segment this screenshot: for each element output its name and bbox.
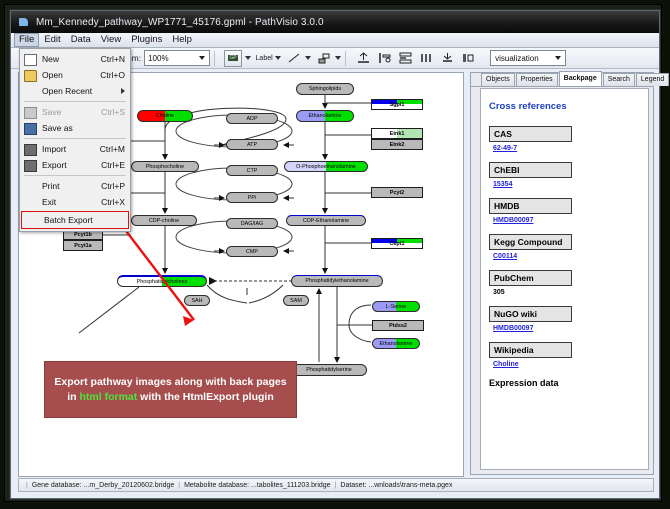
pathway-node-cdp-choline[interactable]: CDP-choline bbox=[131, 215, 197, 226]
pathway-gene-cept1[interactable]: Cept1 bbox=[371, 238, 423, 249]
window-title: Mm_Kennedy_pathway_WP1771_45176.gpml - P… bbox=[36, 17, 324, 28]
pathway-node-label: PPi bbox=[248, 195, 256, 201]
shape-button[interactable] bbox=[316, 51, 332, 66]
status-divider-2: | bbox=[335, 482, 337, 489]
line-icon bbox=[288, 53, 301, 64]
menu-separator-2 bbox=[24, 138, 126, 139]
pathway-gene-label: Etnk2 bbox=[390, 142, 405, 148]
pathway-node-sah[interactable]: SAH bbox=[184, 295, 210, 306]
pathway-node-ethanolamine-top[interactable]: Ethanolamine bbox=[296, 110, 354, 122]
tab-backpage[interactable]: Backpage bbox=[559, 71, 602, 86]
pathway-gene-ptdss2[interactable]: Ptdss2 bbox=[372, 320, 424, 331]
menu-item-print-label: Print bbox=[42, 181, 59, 191]
status-divider-0: | bbox=[26, 482, 28, 489]
pathway-node-label: SAM bbox=[290, 298, 302, 304]
menu-item-export[interactable]: Export Ctrl+E bbox=[20, 157, 130, 173]
status-divider-1: | bbox=[178, 482, 180, 489]
side-panel-tabs: Objects Properties Backpage Search Legen… bbox=[471, 73, 653, 87]
menu-data[interactable]: Data bbox=[66, 33, 96, 47]
menu-item-save-as-label: Save as bbox=[42, 123, 73, 133]
menu-item-open-label: Open bbox=[42, 70, 63, 80]
menu-item-batch-export[interactable]: Batch Export bbox=[21, 211, 129, 229]
zoom-value: 100% bbox=[148, 54, 168, 63]
chevron-down-icon-2 bbox=[555, 56, 561, 60]
menu-file[interactable]: File bbox=[14, 33, 39, 47]
menu-item-batch-export-label: Batch Export bbox=[44, 215, 93, 225]
callout-text-after: with the HtmlExport plugin bbox=[137, 391, 274, 403]
pathway-gene-pcyt2[interactable]: Pcyt2 bbox=[371, 187, 423, 198]
pathway-node-phosphatidylser[interactable]: Phosphatidylserine bbox=[291, 364, 367, 376]
pathway-node-cdp-ethanolamine[interactable]: CDP-Ethanolamine bbox=[286, 215, 366, 226]
line-button[interactable] bbox=[286, 51, 302, 66]
pathway-node-ppi[interactable]: PPi bbox=[226, 192, 278, 203]
pathway-node-cmp[interactable]: CMP bbox=[226, 246, 278, 257]
menu-item-exit[interactable]: Exit Ctrl+X bbox=[20, 194, 130, 210]
tab-legend[interactable]: Legend bbox=[636, 73, 669, 86]
pathway-node-atp[interactable]: ATP bbox=[226, 139, 278, 150]
xref-value-chebi[interactable]: 15354 bbox=[493, 181, 640, 188]
callout-highlight: html format bbox=[80, 391, 138, 403]
save-as-icon bbox=[24, 123, 37, 135]
datanode-dropdown-icon[interactable] bbox=[245, 56, 251, 60]
title-bar: Mm_Kennedy_pathway_WP1771_45176.gpml - P… bbox=[11, 11, 659, 34]
toolbar-divider-2 bbox=[345, 51, 346, 66]
pathway-node-label: Ethanolamine bbox=[309, 113, 342, 119]
xref-value-kegg-compound[interactable]: C00114 bbox=[493, 253, 640, 260]
menu-bar: File Edit Data View Plugins Help bbox=[11, 33, 659, 48]
pathway-node-label: SAH bbox=[191, 298, 202, 304]
pathway-node-ctp[interactable]: CTP bbox=[226, 165, 278, 176]
tab-objects[interactable]: Objects bbox=[481, 73, 515, 86]
order-icon[interactable] bbox=[460, 51, 476, 66]
desktop-background: Mm_Kennedy_pathway_WP1771_45176.gpml - P… bbox=[0, 0, 670, 509]
tab-properties[interactable]: Properties bbox=[516, 73, 558, 86]
menu-help[interactable]: Help bbox=[167, 33, 197, 47]
pathway-node-label: Phosphocholine bbox=[146, 164, 184, 170]
expression-data-heading: Expression data bbox=[489, 378, 640, 388]
pathway-node-label: O-Phosphoethanolamine bbox=[296, 164, 356, 170]
pathway-gene-pcyt1a[interactable]: Pcyt1a bbox=[63, 240, 103, 251]
menu-item-save-as[interactable]: Save as bbox=[20, 120, 130, 136]
export-icon bbox=[24, 160, 37, 172]
menu-item-exit-label: Exit bbox=[42, 197, 56, 207]
pathway-node-label: ATP bbox=[247, 142, 257, 148]
label-button[interactable]: Label bbox=[256, 51, 272, 66]
pathway-gene-etnk1[interactable]: Etnk1 bbox=[371, 128, 423, 139]
pathway-node-choline[interactable]: Choline bbox=[137, 110, 193, 122]
pathway-node-label: ADP bbox=[246, 116, 257, 122]
shape-dropdown-icon[interactable] bbox=[335, 56, 341, 60]
group-icon[interactable] bbox=[439, 51, 455, 66]
pathway-node-o-phosphoetham[interactable]: O-Phosphoethanolamine bbox=[284, 161, 368, 172]
pathway-node-dag-dag[interactable]: DAG/IAG bbox=[226, 218, 278, 229]
menu-item-save: Save Ctrl+S bbox=[20, 104, 130, 120]
visualization-combo[interactable]: visualization bbox=[490, 50, 566, 66]
menu-plugins[interactable]: Plugins bbox=[126, 33, 167, 47]
pathvisio-application-window: Mm_Kennedy_pathway_WP1771_45176.gpml - P… bbox=[10, 10, 660, 499]
align-stack-icon[interactable] bbox=[397, 51, 413, 66]
xref-source-pubchem: PubChem bbox=[489, 270, 572, 286]
menu-item-new-label: New bbox=[42, 54, 59, 64]
pathvisio-icon bbox=[17, 16, 31, 28]
pathway-node-sphingolipids[interactable]: Sphingolipids bbox=[296, 83, 354, 95]
menu-separator-1 bbox=[24, 101, 126, 102]
menu-item-save-label: Save bbox=[42, 107, 61, 117]
zoom-combo[interactable]: 100% bbox=[144, 50, 210, 66]
import-icon bbox=[24, 144, 37, 156]
menu-item-new-accel: Ctrl+N bbox=[101, 54, 125, 64]
status-metabolite-database: Metabolite database: ...tabolites_111203… bbox=[184, 482, 330, 489]
xref-value-nugo-wiki[interactable]: HMDB00097 bbox=[493, 325, 640, 332]
menu-item-export-accel: Ctrl+E bbox=[101, 160, 125, 170]
pathway-node-label: CDP-choline bbox=[149, 218, 179, 224]
align-top-icon[interactable] bbox=[355, 51, 371, 66]
tab-search[interactable]: Search bbox=[603, 73, 635, 86]
shape-icon bbox=[318, 53, 331, 64]
pathway-node-phosphatidylch[interactable]: Phosphatidylcholines bbox=[117, 275, 207, 287]
label-dropdown-icon[interactable] bbox=[275, 56, 281, 60]
menu-item-import-label: Import bbox=[42, 144, 66, 154]
pathway-node-label: Ethanolamine bbox=[380, 341, 413, 347]
align-left-icon[interactable] bbox=[376, 51, 392, 66]
xref-source-chebi: ChEBI bbox=[489, 162, 572, 178]
save-icon bbox=[24, 107, 37, 119]
open-folder-icon bbox=[24, 70, 37, 82]
xref-value-wikipedia[interactable]: Choline bbox=[493, 361, 640, 368]
pathway-gene-label: Ptdss2 bbox=[389, 323, 407, 329]
pathway-node-ethanolamine-low[interactable]: Ethanolamine bbox=[372, 338, 420, 349]
pathway-node-phosphocholine[interactable]: Phosphocholine bbox=[131, 161, 199, 172]
status-gene-database: Gene database: ...m_Derby_20120602.bridg… bbox=[32, 482, 174, 489]
menu-edit[interactable]: Edit bbox=[39, 33, 65, 47]
pathway-node-label: L-Serine bbox=[386, 304, 406, 310]
menu-view[interactable]: View bbox=[96, 33, 126, 47]
pathway-node-label: CMP bbox=[246, 249, 258, 255]
status-bar: | Gene database: ...m_Derby_20120602.bri… bbox=[18, 478, 654, 492]
line-dropdown-icon[interactable] bbox=[305, 56, 311, 60]
menu-item-exit-accel: Ctrl+X bbox=[101, 197, 125, 207]
xref-value-pubchem: 305 bbox=[493, 289, 640, 296]
pathway-node-sam[interactable]: SAM bbox=[283, 295, 309, 306]
datanode-button[interactable]: GP bbox=[224, 50, 242, 67]
cross-references-heading: Cross references bbox=[489, 101, 640, 112]
new-document-icon bbox=[24, 54, 37, 66]
menu-item-open-recent[interactable]: Open Recent bbox=[20, 83, 130, 99]
pathway-node-label: DAG/IAG bbox=[241, 221, 263, 227]
pathway-node-label: Choline bbox=[156, 113, 174, 119]
pathway-node-label: Phosphatidylserine bbox=[306, 367, 352, 373]
menu-item-new[interactable]: New Ctrl+N bbox=[20, 51, 130, 67]
pathway-gene-label: Pcyt1b bbox=[74, 232, 92, 238]
menu-item-open-recent-label: Open Recent bbox=[42, 86, 92, 96]
menu-item-export-label: Export bbox=[42, 160, 67, 170]
file-menu-dropdown[interactable]: New Ctrl+N Open Ctrl+O Open Recent Save … bbox=[19, 48, 131, 232]
pathway-gene-label: Pcyt2 bbox=[390, 190, 404, 196]
label-button-text: Label bbox=[256, 55, 273, 62]
pathway-node-label: Phosphatidylcholines bbox=[137, 279, 188, 285]
annotation-callout: Export pathway images along with back pa… bbox=[44, 361, 297, 418]
menu-item-import[interactable]: Import Ctrl+M bbox=[20, 141, 130, 157]
menu-item-open-accel: Ctrl+O bbox=[100, 70, 125, 80]
chevron-down-icon bbox=[199, 56, 205, 60]
backpage-content: Cross references CAS62-49-7ChEBI15354HMD… bbox=[480, 88, 649, 470]
submenu-arrow-icon bbox=[121, 88, 125, 94]
pathway-node-label: Sphingolipids bbox=[309, 86, 341, 92]
menu-item-print[interactable]: Print Ctrl+P bbox=[20, 178, 130, 194]
visualization-value: visualization bbox=[495, 54, 539, 63]
menu-item-print-accel: Ctrl+P bbox=[101, 181, 125, 191]
pathway-node-label: Phosphatidylethanolamine bbox=[305, 278, 368, 284]
xref-source-kegg-compound: Kegg Compound bbox=[489, 234, 572, 250]
xref-source-hmdb: HMDB bbox=[489, 198, 572, 214]
status-dataset: Dataset: ...wnloads\trans-meta.pgex bbox=[340, 482, 452, 489]
xref-source-nugo-wiki: NuGO wiki bbox=[489, 306, 572, 322]
pathway-gene-label: Cept1 bbox=[390, 241, 405, 247]
menu-item-import-accel: Ctrl+M bbox=[100, 144, 125, 154]
pathway-gene-sgpl1[interactable]: Sgpl1 bbox=[371, 99, 423, 110]
pathway-gene-label: Sgpl1 bbox=[390, 102, 405, 108]
xref-source-cas: CAS bbox=[489, 126, 572, 142]
cross-reference-list: CAS62-49-7ChEBI15354HMDBHMDB00097Kegg Co… bbox=[489, 126, 640, 368]
menu-separator-3 bbox=[24, 175, 126, 176]
pathway-gene-etnk2[interactable]: Etnk2 bbox=[371, 139, 423, 150]
pathway-gene-label: Etnk1 bbox=[390, 131, 405, 137]
distribute-icon[interactable] bbox=[418, 51, 434, 66]
side-panel: Objects Properties Backpage Search Legen… bbox=[470, 72, 654, 475]
pathway-node-adp[interactable]: ADP bbox=[226, 113, 278, 124]
xref-value-hmdb[interactable]: HMDB00097 bbox=[493, 217, 640, 224]
xref-value-cas[interactable]: 62-49-7 bbox=[493, 145, 640, 152]
pathway-node-phosphatidyleth[interactable]: Phosphatidylethanolamine bbox=[291, 275, 383, 287]
pathway-node-label: CDP-Ethanolamine bbox=[303, 218, 349, 224]
menu-item-save-accel: Ctrl+S bbox=[101, 107, 125, 117]
pathway-node-label: CTP bbox=[247, 168, 258, 174]
xref-source-wikipedia: Wikipedia bbox=[489, 342, 572, 358]
pathway-node-l-serine[interactable]: L-Serine bbox=[372, 301, 420, 312]
toolbar-divider bbox=[214, 51, 215, 66]
menu-item-open[interactable]: Open Ctrl+O bbox=[20, 67, 130, 83]
pathway-gene-label: Pcyt1a bbox=[74, 243, 91, 249]
